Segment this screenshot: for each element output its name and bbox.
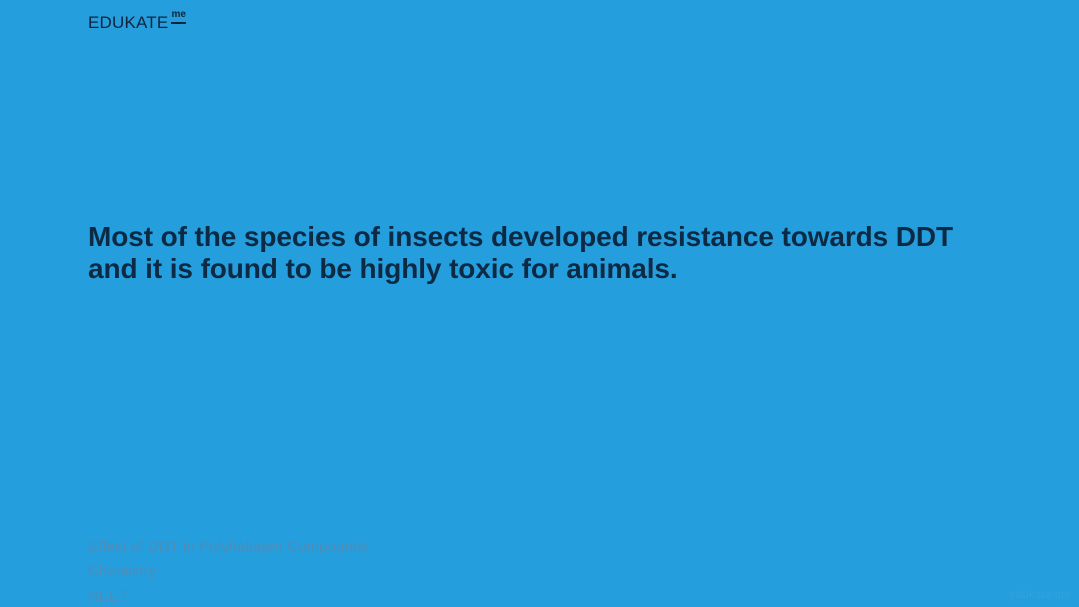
page-title: Most of the species of insects developed… bbox=[88, 221, 1008, 285]
footer-subject: Chemistry bbox=[88, 559, 369, 584]
brand-name: EDUKATE bbox=[88, 14, 168, 31]
slide-canvas: EDUKATE me Most of the species of insect… bbox=[0, 0, 1079, 607]
brand-logo[interactable]: EDUKATE me bbox=[88, 14, 186, 31]
brand-suffix: me bbox=[171, 10, 185, 24]
slide-footer: Effect of DDT in Polyhalogen Compounds C… bbox=[88, 534, 369, 607]
footer-topic: Effect of DDT in Polyhalogen Compounds bbox=[88, 534, 369, 559]
headline-line-1: Most of the species of insects developed… bbox=[88, 221, 1008, 253]
headline-line-2: and it is found to be highly toxic for a… bbox=[88, 253, 1008, 285]
corner-watermark: edukate.me bbox=[1010, 589, 1071, 601]
footer-exam: NEET bbox=[88, 584, 369, 607]
